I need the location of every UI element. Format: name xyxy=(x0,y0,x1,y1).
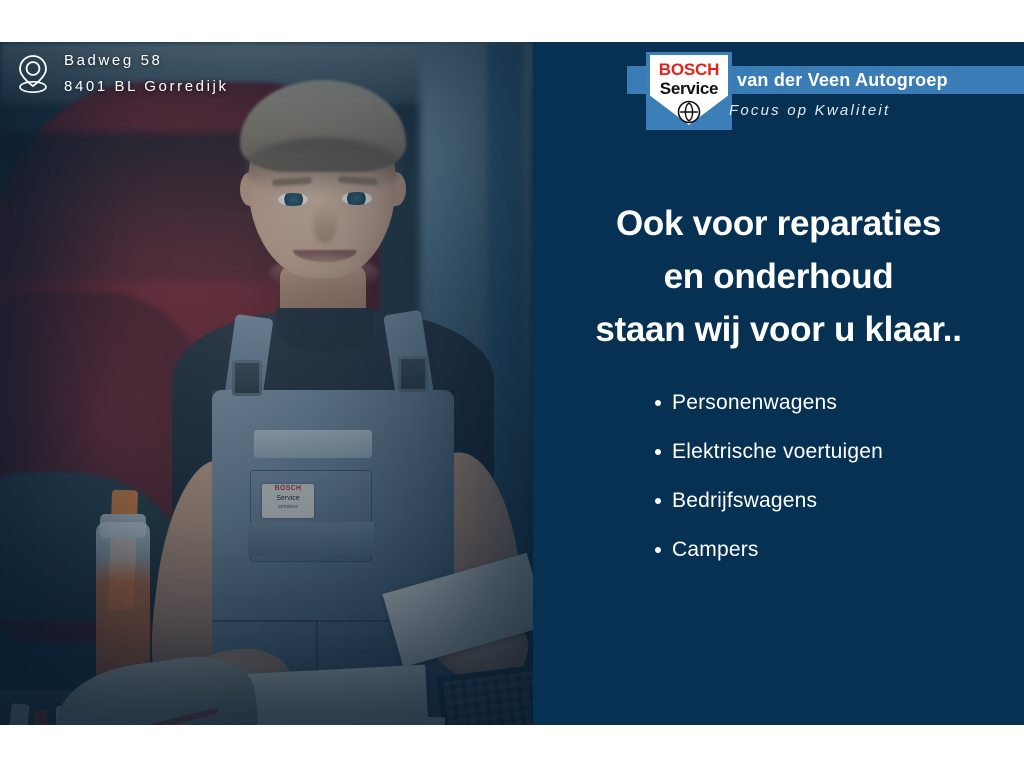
badge-service-word: Service xyxy=(262,494,314,503)
services-list: Personenwagens Elektrische voertuigen Be… xyxy=(655,390,1015,586)
list-item: Personenwagens xyxy=(655,390,1015,416)
list-item: Elektrische voertuigen xyxy=(655,439,1015,465)
mechanic-nose xyxy=(313,205,337,243)
info-panel: BOSCH Service van der Veen Autogroep Foc… xyxy=(533,42,1024,725)
workshop-photo: BOSCH Service armature xyxy=(0,42,533,725)
mechanic-left-eye xyxy=(278,193,308,206)
overall-left-buckle xyxy=(232,360,262,396)
badge-bosch-word: BOSCH xyxy=(262,484,314,494)
headline: Ook voor reparaties en onderhoud staan w… xyxy=(533,197,1024,356)
bullet-dot-icon xyxy=(655,547,661,553)
bosch-service-logo: BOSCH Service xyxy=(646,52,732,130)
tool-screwdriver xyxy=(8,703,29,725)
mechanic-right-eye xyxy=(342,192,372,205)
service-label: Personenwagens xyxy=(672,390,837,416)
bosch-wordmark: BOSCH xyxy=(654,60,724,80)
mechanic-chin xyxy=(270,256,378,290)
headline-line-2: en onderhoud xyxy=(533,250,1024,303)
mechanic-hair-shadow xyxy=(246,138,400,194)
mechanic-collar xyxy=(276,308,374,352)
tool-red-handle xyxy=(33,710,49,725)
service-label: Bedrijfswagens xyxy=(672,488,817,514)
overall-right-buckle xyxy=(398,356,428,392)
overall-reflective-strip xyxy=(254,430,372,458)
badge-mark: armature xyxy=(262,503,314,511)
service-wordmark: Service xyxy=(654,79,724,99)
headline-line-1: Ook voor reparaties xyxy=(533,197,1024,250)
bosch-service-badge: BOSCH Service armature xyxy=(262,484,314,518)
advertisement-banner: BOSCH Service armature xyxy=(0,0,1024,768)
location-pin-icon xyxy=(16,53,50,95)
address-text: Badweg 58 8401 BL Gorredijk xyxy=(64,48,229,100)
service-label: Campers xyxy=(672,537,759,563)
company-name: van der Veen Autogroep xyxy=(737,66,948,94)
list-item: Campers xyxy=(655,537,1015,563)
bullet-dot-icon xyxy=(655,498,661,504)
headline-line-3: staan wij voor u klaar.. xyxy=(533,303,1024,356)
bosch-armature-icon xyxy=(677,100,701,124)
list-item: Bedrijfswagens xyxy=(655,488,1015,514)
bullet-dot-icon xyxy=(655,449,661,455)
company-tagline: Focus op Kwaliteit xyxy=(729,102,890,119)
address-line-2: 8401 BL Gorredijk xyxy=(64,74,229,100)
bullet-dot-icon xyxy=(655,400,661,406)
address-overlay: Badweg 58 8401 BL Gorredijk xyxy=(16,48,229,100)
address-line-1: Badweg 58 xyxy=(64,48,229,74)
service-label: Elektrische voertuigen xyxy=(672,439,883,465)
overall-pocket-flap xyxy=(248,522,374,556)
